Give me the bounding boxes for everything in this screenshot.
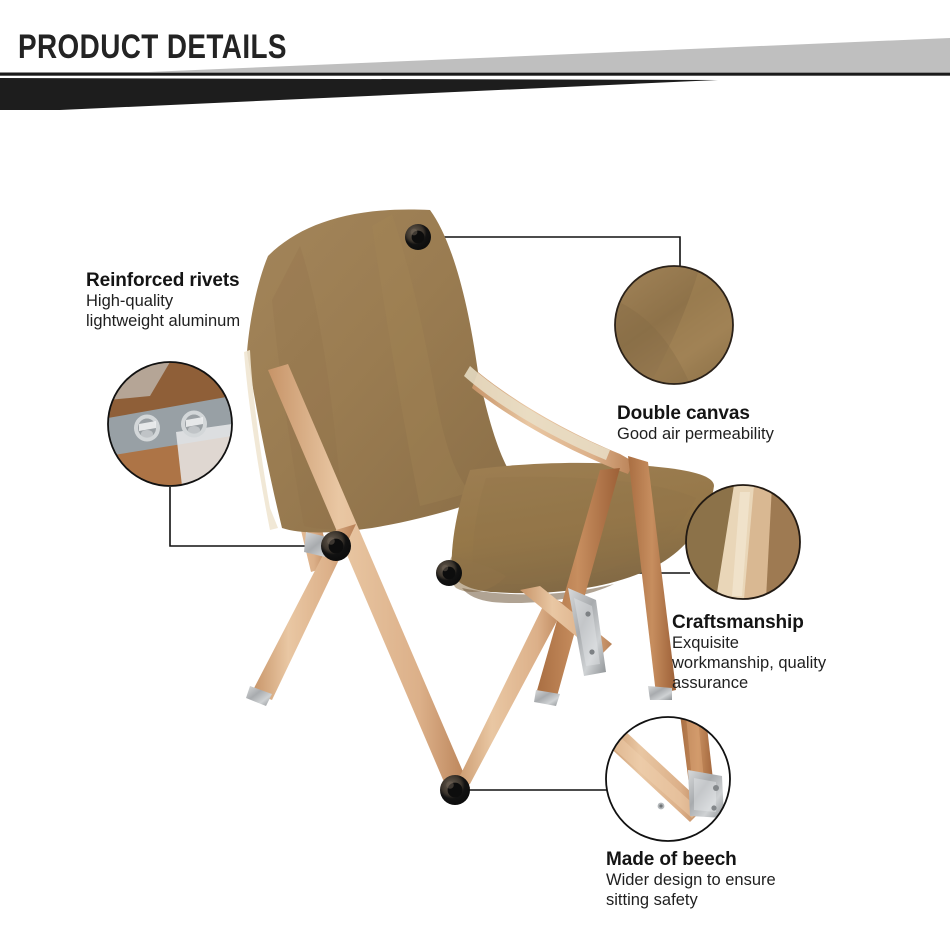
- rivet-head-left: [134, 415, 160, 442]
- grommet-top: [405, 224, 431, 250]
- callout-double-canvas: Double canvas Good air permeability: [617, 403, 774, 445]
- rivet-head-right: [181, 411, 207, 438]
- grommet-seat-joint: [436, 560, 462, 586]
- callout-reinforced-rivets: Reinforced rivets High-quality lightweig…: [86, 270, 240, 332]
- callout-desc-reinforced-rivets: High-quality lightweight aluminum: [86, 292, 240, 331]
- callout-desc-line: Exquisite: [672, 634, 826, 654]
- callout-title-craftsmanship: Craftsmanship: [672, 612, 826, 633]
- chair-canvas-seat: [452, 463, 714, 593]
- callout-desc-line: Good air permeability: [617, 425, 774, 445]
- beech-metal-bracket: [688, 770, 724, 818]
- chair-seat-fold-a: [473, 477, 696, 584]
- callout-desc-line: lightweight aluminum: [86, 312, 240, 332]
- chair-right-front-leg: [536, 468, 620, 700]
- chair-illustration: [244, 209, 714, 805]
- chair-right-arm-rail: [472, 372, 634, 474]
- callout-desc-line: workmanship, quality: [672, 654, 826, 674]
- chair-rear-left-leg: [252, 524, 356, 700]
- detail-circle-craftsmanship: [686, 485, 800, 599]
- header-rule: [0, 73, 950, 76]
- chair-right-strap: [464, 366, 610, 460]
- chair-back-left-post: [262, 362, 331, 572]
- callout-desc-craftsmanship: Exquisite workmanship, quality assurance: [672, 634, 826, 693]
- chair-canvas-back-fold: [272, 246, 356, 529]
- detail-circle-made-of-beech: [604, 714, 730, 841]
- chair-canvas-back: [247, 209, 520, 532]
- header-black-wedge: [0, 78, 718, 110]
- callout-desc-made-of-beech: Wider design to ensure sitting safety: [606, 871, 776, 910]
- grommet-left-joint: [321, 531, 351, 561]
- callout-desc-double-canvas: Good air permeability: [617, 425, 774, 445]
- product-detail-infographic: PRODUCT DETAILS: [0, 0, 950, 940]
- callout-made-of-beech: Made of beech Wider design to ensure sit…: [606, 849, 776, 911]
- leader-line-double-canvas: [420, 237, 680, 266]
- product-illustration: [0, 0, 950, 940]
- chair-front-left-leg: [268, 364, 470, 796]
- leader-line-reinforced-rivets: [170, 487, 336, 546]
- chair-seat-hem: [462, 584, 614, 603]
- callout-desc-line: Wider design to ensure: [606, 871, 776, 891]
- callout-title-reinforced-rivets: Reinforced rivets: [86, 270, 240, 291]
- callout-craftsmanship: Craftsmanship Exquisite workmanship, qua…: [672, 612, 826, 693]
- beech-leg-left: [604, 730, 706, 822]
- chair-metal-joint-plate: [568, 588, 606, 676]
- detail-circle-double-canvas: [615, 266, 733, 384]
- detail-circle-reinforced-rivets: [108, 362, 232, 486]
- callout-desc-line: High-quality: [86, 292, 240, 312]
- header-banner: PRODUCT DETAILS: [0, 0, 950, 118]
- callout-desc-line: assurance: [672, 674, 826, 694]
- chair-seat-front-roll: [449, 556, 506, 592]
- grommet-bottom-vertex: [440, 775, 470, 805]
- chair-foot-ferrules: [246, 686, 672, 706]
- beech-leg-right: [680, 714, 716, 808]
- callout-desc-line: sitting safety: [606, 891, 776, 911]
- leader-lines: [170, 237, 690, 790]
- chair-seat-bracket-left: [304, 532, 340, 560]
- page-title: PRODUCT DETAILS: [18, 28, 287, 67]
- chair-cross-brace: [520, 586, 612, 656]
- chair-canvas-back-highlight: [372, 214, 470, 506]
- chair-right-rear-leg: [628, 456, 676, 694]
- callout-title-double-canvas: Double canvas: [617, 403, 774, 424]
- chair-v-right-member: [452, 596, 566, 792]
- chair-canvas-left-trim: [244, 350, 278, 530]
- callout-title-made-of-beech: Made of beech: [606, 849, 776, 870]
